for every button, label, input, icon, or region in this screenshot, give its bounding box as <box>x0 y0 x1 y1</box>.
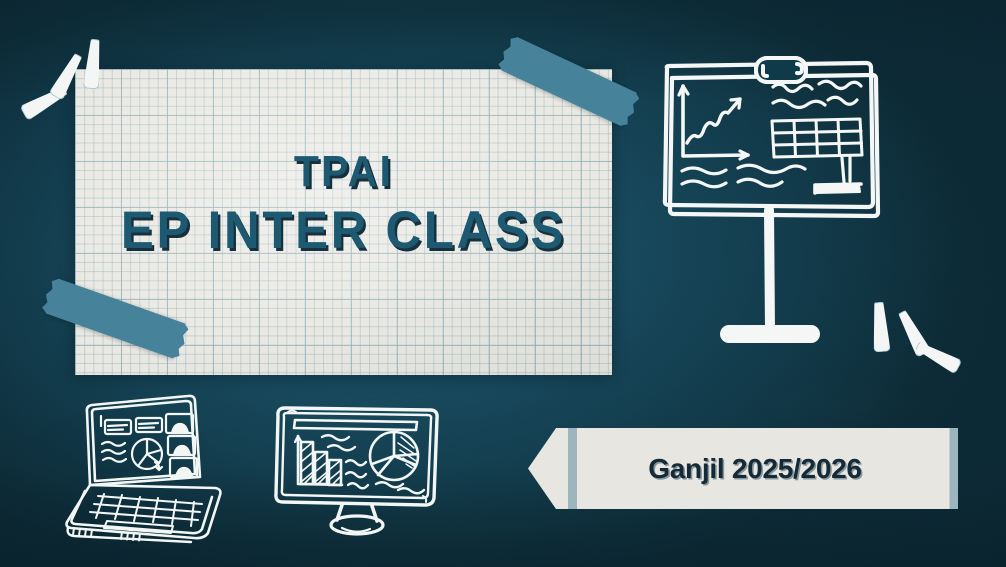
page-title-line-2: EP INTER CLASS <box>94 204 593 258</box>
whiteboard-icon <box>660 58 908 388</box>
semester-banner: Ganjil 2025/2026 <box>528 428 958 509</box>
page-title-line-1: TPAI <box>94 150 593 195</box>
title-block: TPAI EP INTER CLASS <box>75 150 612 258</box>
semester-label: Ganjil 2025/2026 <box>528 428 958 509</box>
slide-canvas: TPAI EP INTER CLASS <box>0 0 1006 567</box>
monitor-icon <box>266 404 452 540</box>
laptop-icon <box>58 392 230 542</box>
